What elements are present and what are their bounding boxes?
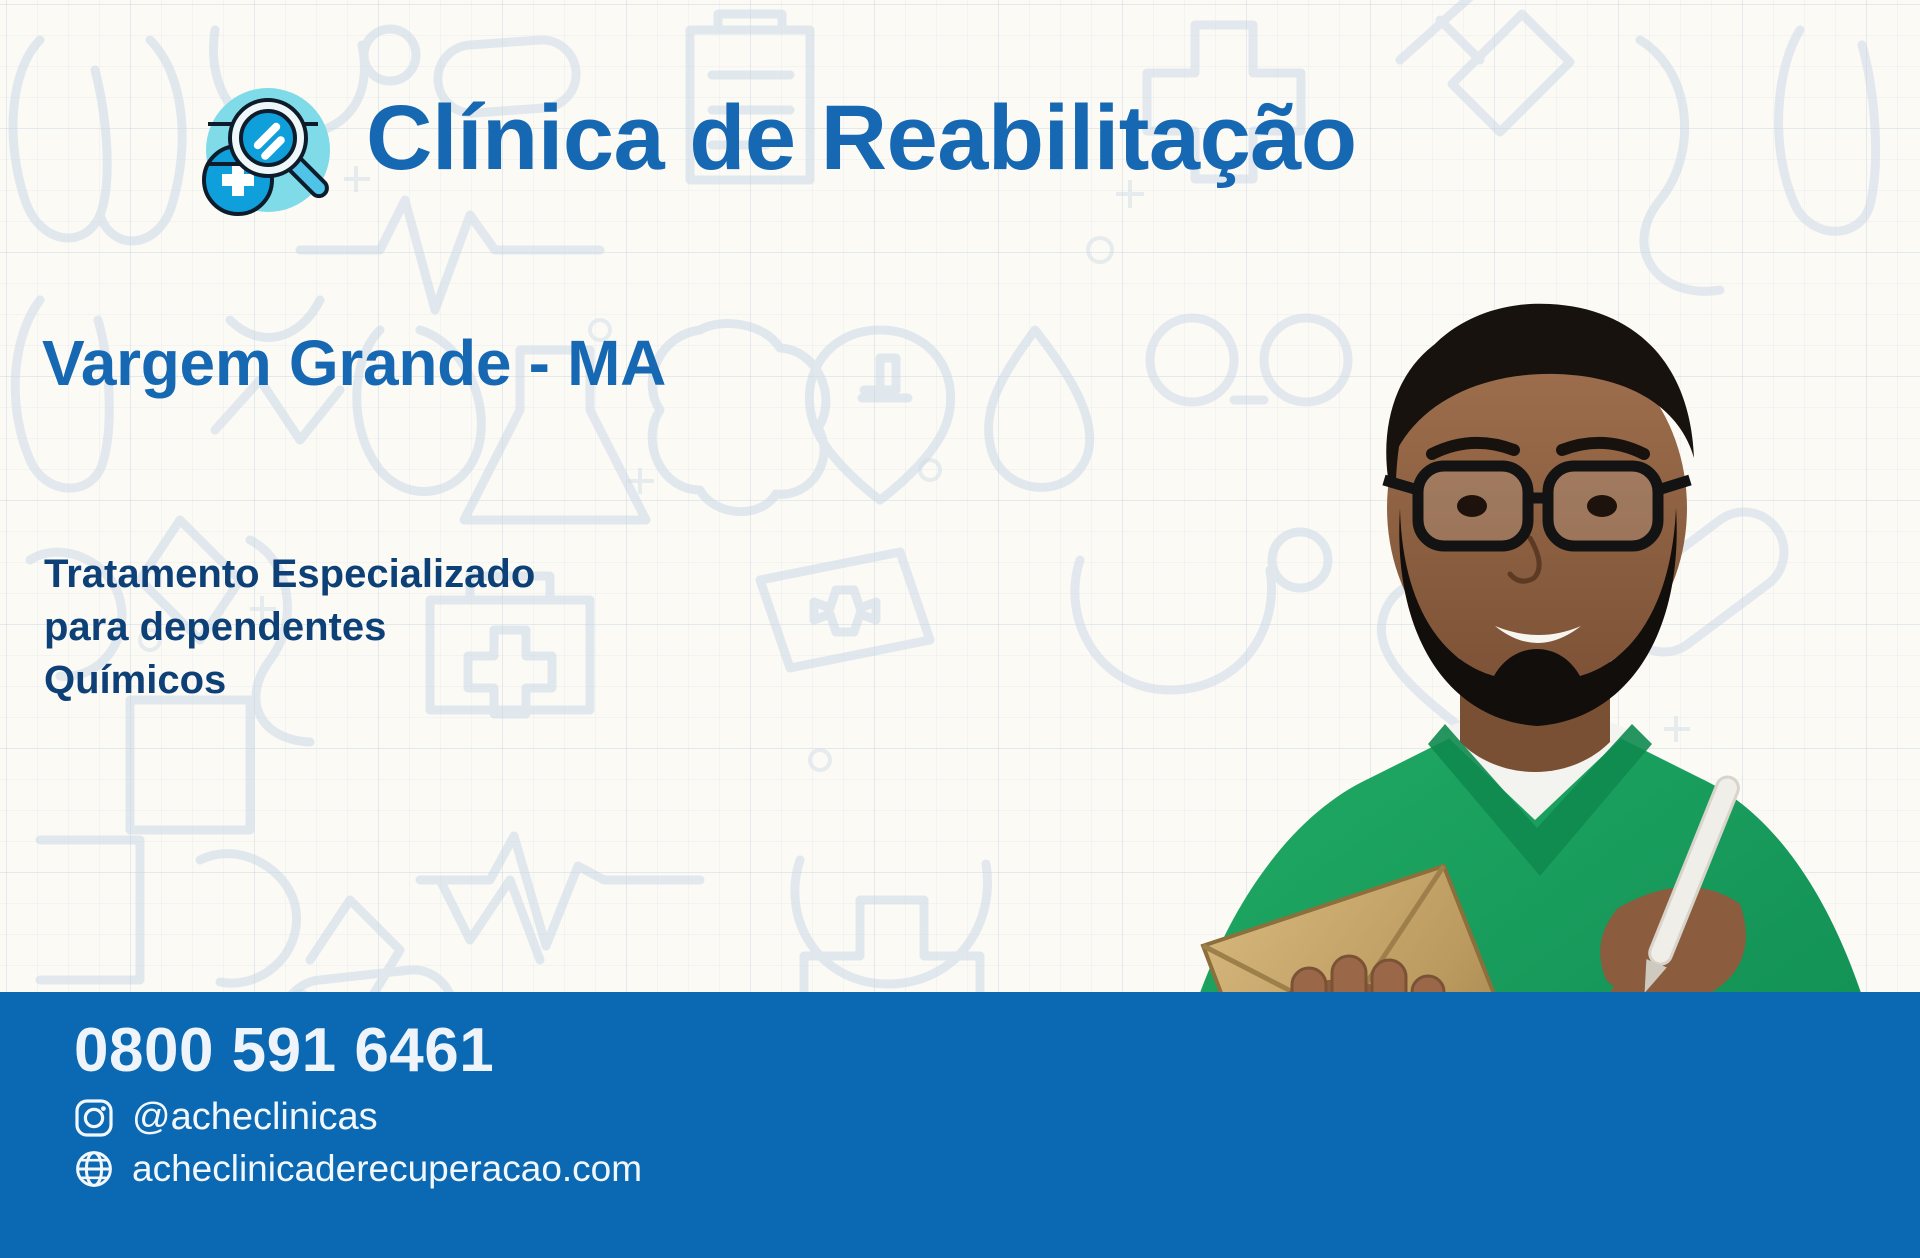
location-title: Vargem Grande - MA — [42, 330, 666, 397]
website-url: acheclinicaderecuperacao.com — [132, 1149, 642, 1190]
website-contact-row[interactable]: acheclinicaderecuperacao.com — [74, 1149, 642, 1190]
treatment-line-1: Tratamento Especializado — [44, 548, 535, 601]
magnifier-medical-cross-icon — [188, 72, 348, 232]
instagram-contact-row[interactable]: @acheclinicas — [74, 1097, 642, 1139]
instagram-icon — [74, 1098, 114, 1138]
contact-footer: 0800 591 6461 @acheclinicas — [0, 992, 1920, 1258]
treatment-line-3: Químicos — [44, 654, 535, 707]
phone-number[interactable]: 0800 591 6461 — [74, 1018, 642, 1083]
instagram-handle: @acheclinicas — [132, 1097, 378, 1139]
page-title: Clínica de Reabilitação — [366, 92, 1357, 186]
promotional-banner: Clínica de Reabilitação Vargem Grande - … — [0, 0, 1920, 1258]
treatment-description: Tratamento Especializado para dependente… — [44, 548, 535, 706]
globe-icon — [74, 1149, 114, 1189]
treatment-line-2: para dependentes — [44, 601, 535, 654]
